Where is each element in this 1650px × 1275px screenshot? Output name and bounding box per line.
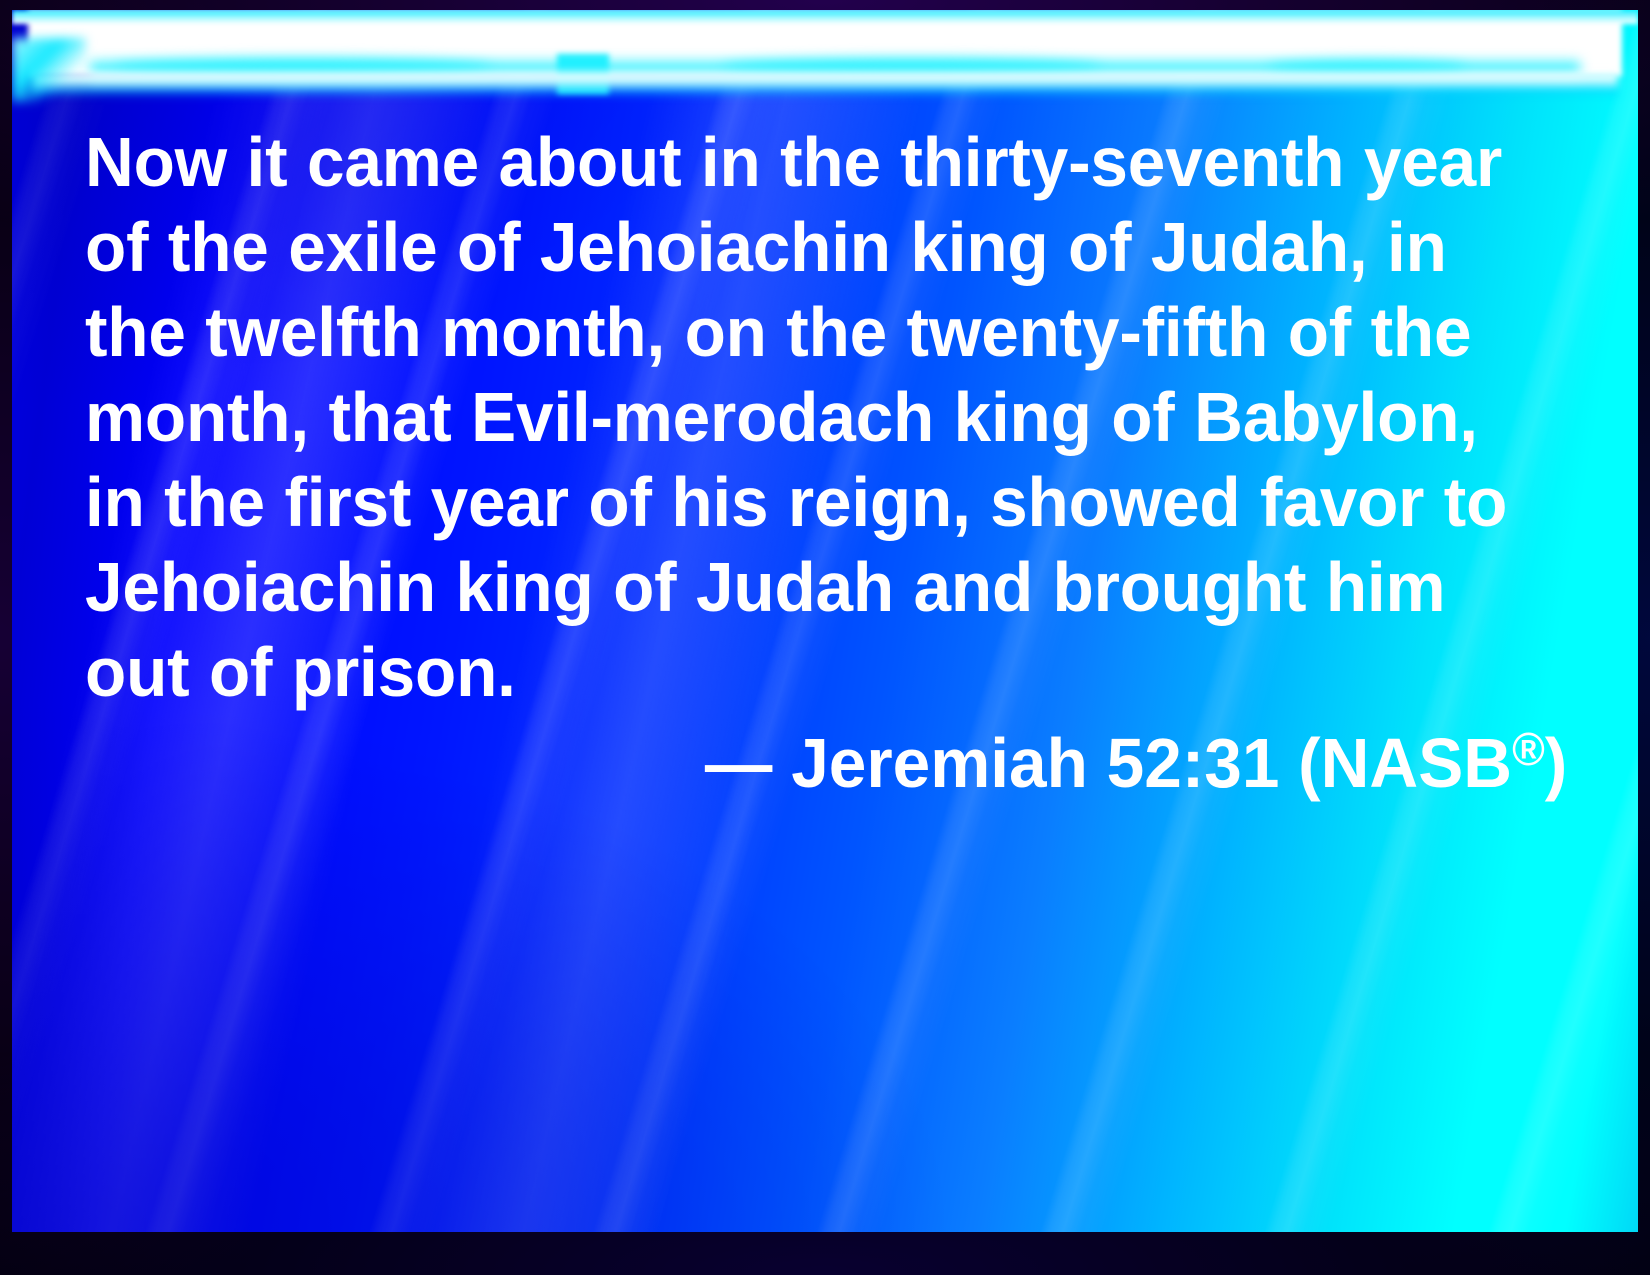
verse-attribution: — Jeremiah 52:31 (NASB®): [137, 721, 1575, 806]
slide-frame: Now it came about in the thirty-seventh …: [0, 0, 1650, 1275]
verse-attribution-prefix: — Jeremiah 52:31 (NASB: [705, 724, 1512, 802]
verse-text: Now it came about in the thirty-seventh …: [85, 120, 1523, 715]
slide-canvas: Now it came about in the thirty-seventh …: [12, 10, 1638, 1232]
verse-block: Now it came about in the thirty-seventh …: [85, 120, 1575, 806]
registered-trademark-icon: ®: [1512, 723, 1545, 775]
verse-attribution-suffix: ): [1545, 724, 1567, 802]
